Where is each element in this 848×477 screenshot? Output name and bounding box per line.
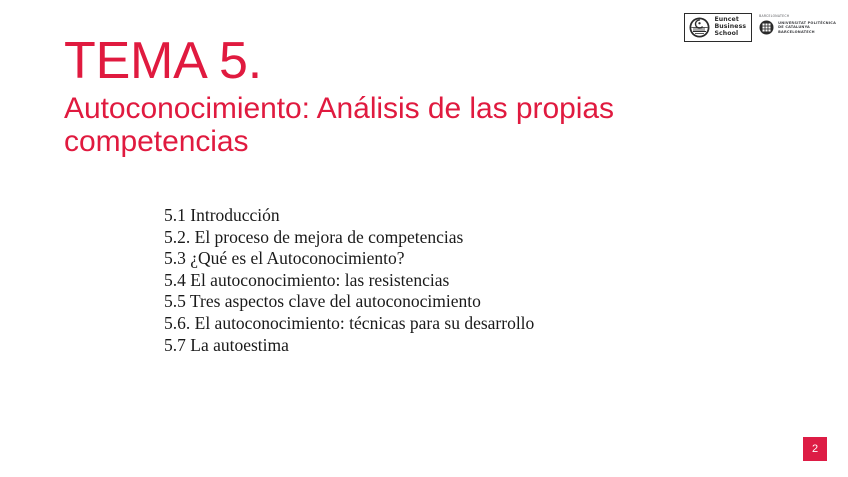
index-list-item: 5.6. El autoconocimiento: técnicas para … [164,313,534,335]
upc-logo-row: UNIVERSITAT POLITÈCNICA DE CATALUNYA BAR… [759,20,836,35]
page-number-badge: 2 [803,437,827,461]
upc-wordmark: UNIVERSITAT POLITÈCNICA DE CATALUNYA BAR… [778,21,836,34]
upc-grid-circle-icon [759,20,774,35]
euncet-wordmark-line-3: School [714,31,746,38]
index-list-item: 5.2. El proceso de mejora de competencia… [164,227,534,249]
section-index-list: 5.1 Introducción5.2. El proceso de mejor… [164,205,534,356]
logo-bar: Euncet Business School BARCELONATECH [684,13,836,42]
index-list-item: 5.7 La autoestima [164,335,534,357]
upc-tagline: BARCELONATECH [759,13,836,18]
index-list-item: 5.3 ¿Qué es el Autoconocimiento? [164,248,534,270]
upc-barcelonatech-logo: BARCELONATECH [759,13,836,35]
index-list-item: 5.4 El autoconocimiento: las resistencia… [164,270,534,292]
title-block: TEMA 5. Autoconocimiento: Análisis de la… [64,33,704,158]
page-title: TEMA 5. [64,33,704,89]
upc-wordmark-line-3: BARCELONATECH [778,30,836,34]
slide-canvas: Euncet Business School BARCELONATECH [0,0,848,477]
index-list-item: 5.5 Tres aspectos clave del autoconocimi… [164,291,534,313]
page-subtitle: Autoconocimiento: Análisis de las propia… [64,89,654,158]
index-list-item: 5.1 Introducción [164,205,534,227]
euncet-wordmark: Euncet Business School [714,17,746,37]
